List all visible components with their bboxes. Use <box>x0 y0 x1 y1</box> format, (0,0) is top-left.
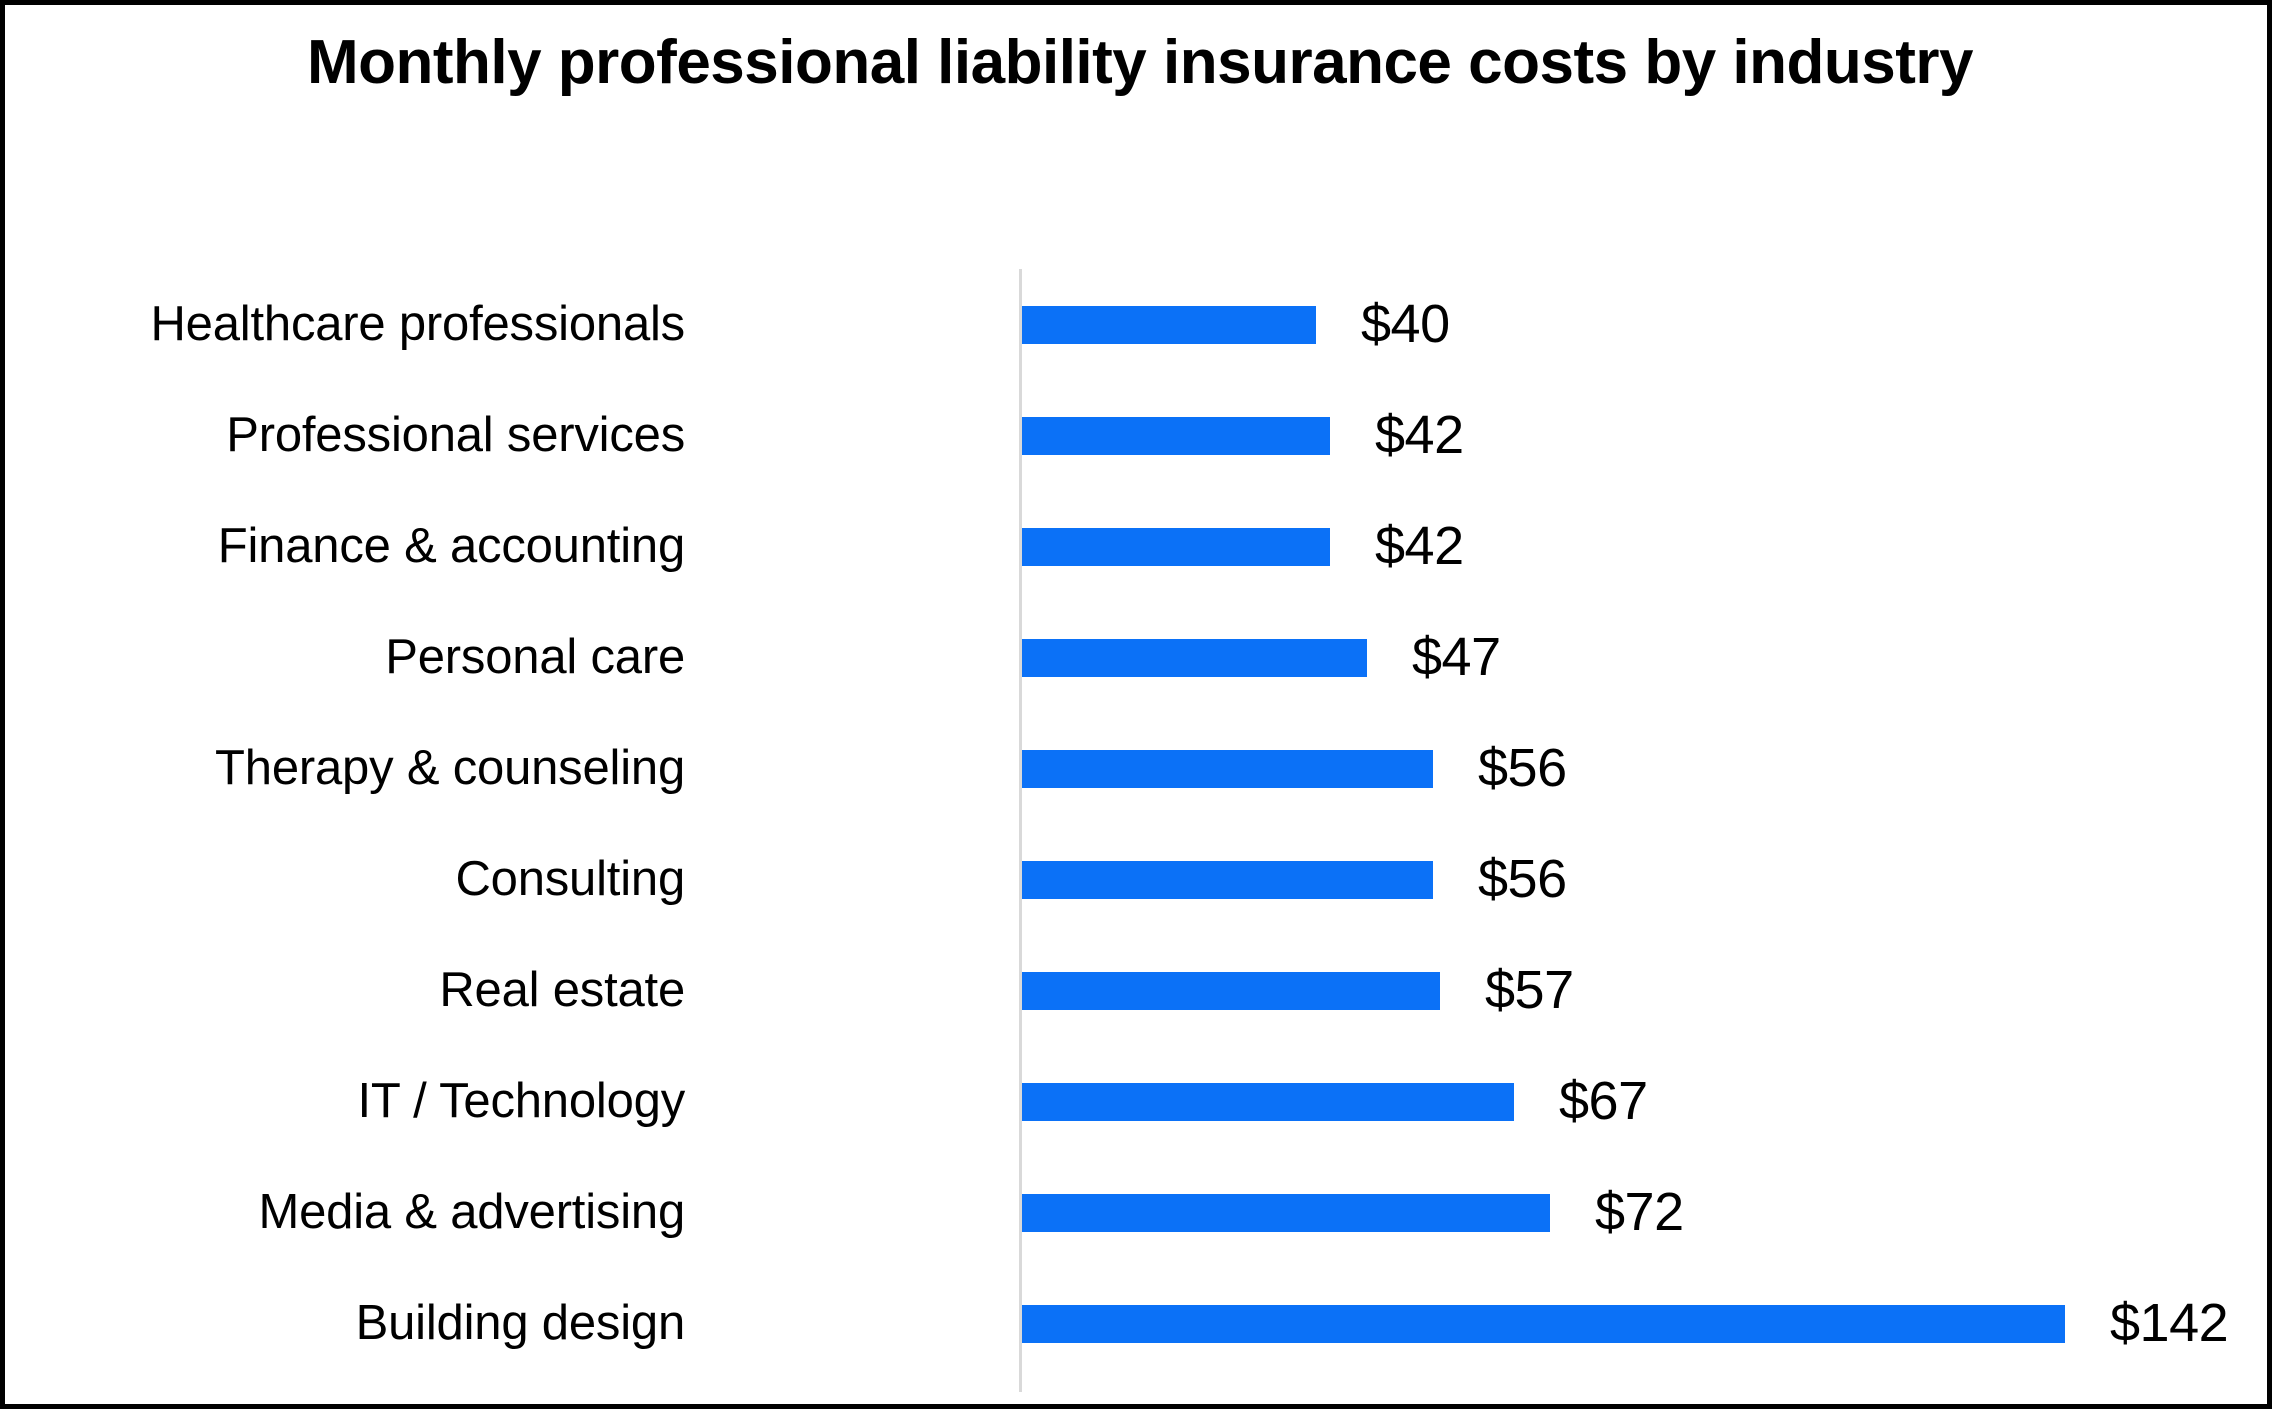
category-label: Media & advertising <box>25 1157 685 1268</box>
bar <box>1022 639 1367 677</box>
bar <box>1022 1305 2065 1343</box>
bar-value-label: $42 <box>1375 380 1464 491</box>
bar-row: Building design $142 <box>5 1268 2267 1379</box>
bar-value-label: $57 <box>1485 935 1574 1046</box>
bar-row: Finance & accounting $42 <box>5 491 2267 602</box>
bar-value-label: $67 <box>1559 1046 1648 1157</box>
bar <box>1022 417 1330 455</box>
plot-area: Healthcare professionals $40 Professiona… <box>5 5 2267 1404</box>
bar-row: IT / Technology $67 <box>5 1046 2267 1157</box>
bar <box>1022 972 1440 1010</box>
bar <box>1022 861 1433 899</box>
category-label: Building design <box>25 1268 685 1379</box>
bar <box>1022 750 1433 788</box>
bar-row: Consulting $56 <box>5 824 2267 935</box>
category-label: Real estate <box>25 935 685 1046</box>
category-label: Professional services <box>25 380 685 491</box>
bar-value-label: $56 <box>1478 824 1567 935</box>
bar-row: Media & advertising $72 <box>5 1157 2267 1268</box>
bar-value-label: $142 <box>2110 1268 2228 1379</box>
category-label: Therapy & counseling <box>25 713 685 824</box>
bar-value-label: $72 <box>1595 1157 1684 1268</box>
category-label: Healthcare professionals <box>25 269 685 380</box>
chart-container: Monthly professional liability insurance… <box>0 0 2272 1409</box>
category-label: IT / Technology <box>25 1046 685 1157</box>
bar <box>1022 1083 1514 1121</box>
bar-row: Therapy & counseling $56 <box>5 713 2267 824</box>
bar-row: Real estate $57 <box>5 935 2267 1046</box>
bar <box>1022 1194 1550 1232</box>
bar-row: Healthcare professionals $40 <box>5 269 2267 380</box>
category-label: Personal care <box>25 602 685 713</box>
bar-value-label: $47 <box>1412 602 1501 713</box>
bar-value-label: $56 <box>1478 713 1567 824</box>
bar <box>1022 306 1316 344</box>
bar-value-label: $40 <box>1361 269 1450 380</box>
bar-row: Professional services $42 <box>5 380 2267 491</box>
bar-row: Personal care $47 <box>5 602 2267 713</box>
bar <box>1022 528 1330 566</box>
category-label: Consulting <box>25 824 685 935</box>
bar-value-label: $42 <box>1375 491 1464 602</box>
category-label: Finance & accounting <box>25 491 685 602</box>
